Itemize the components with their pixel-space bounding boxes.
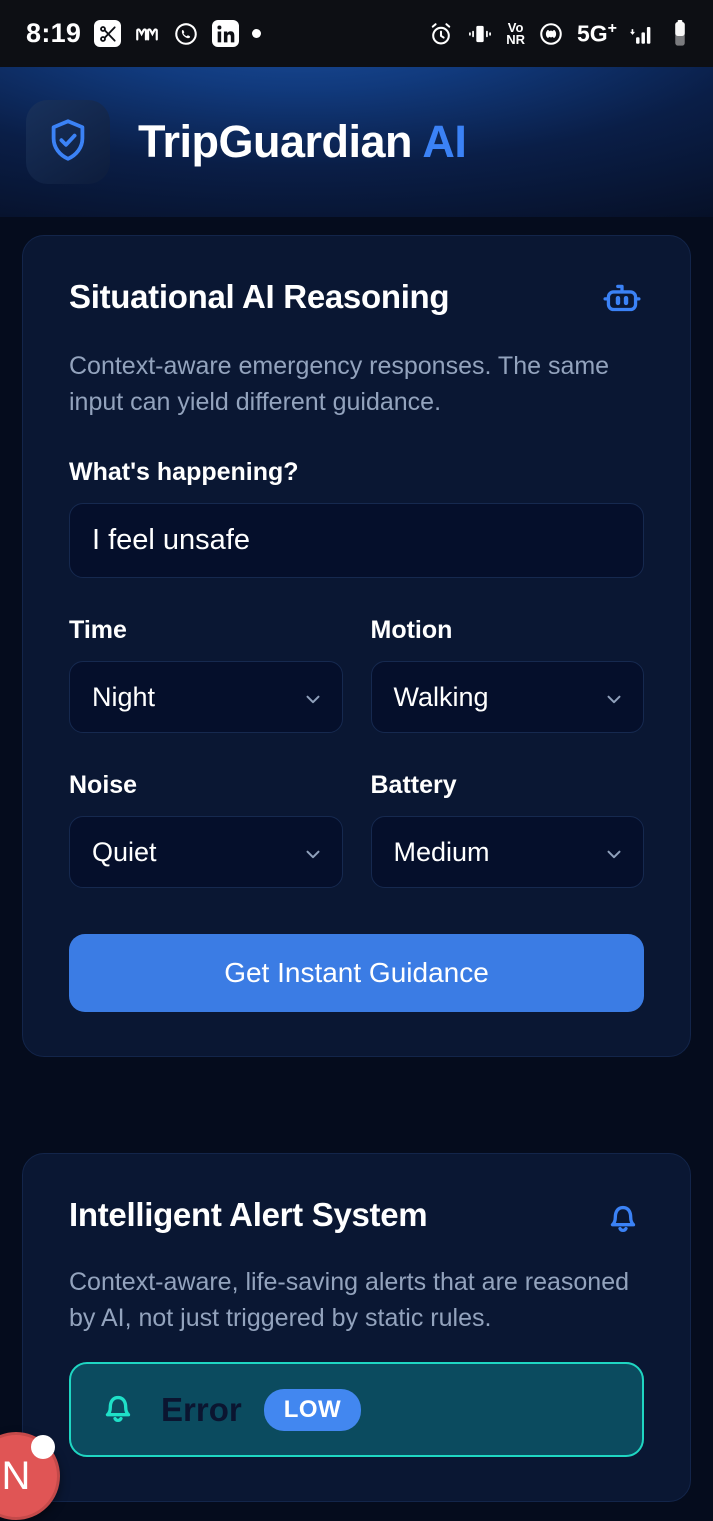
- alert-title: Error: [161, 1391, 242, 1429]
- hotspot-icon: [538, 21, 564, 47]
- select-noise-value: Quiet: [92, 837, 157, 868]
- page-content: Situational AI Reasoning Context-aware e…: [0, 235, 713, 1502]
- select-label-battery: Battery: [371, 771, 645, 800]
- status-bar-left: 8:19: [26, 18, 261, 49]
- screenshot-icon: [94, 20, 121, 47]
- avatar-initial: N: [2, 1454, 31, 1499]
- status-bar-right: Vo NR 5G+: [428, 20, 691, 48]
- avatar[interactable]: N: [0, 1432, 60, 1520]
- select-group-battery: Battery Medium: [371, 733, 645, 888]
- card-spacer: [22, 1057, 691, 1135]
- status-badge: LOW: [264, 1389, 361, 1431]
- card-description: Context-aware emergency responses. The s…: [69, 349, 644, 420]
- situation-input-label: What's happening?: [69, 458, 644, 487]
- card-title: Intelligent Alert System: [69, 1196, 427, 1234]
- card-intelligent-alert-system: Intelligent Alert System Context-aware, …: [22, 1153, 691, 1502]
- select-label-noise: Noise: [69, 771, 343, 800]
- context-selects-grid: Time Night Motion Walking Nois: [69, 578, 644, 888]
- linkedin-icon: [212, 20, 239, 47]
- alarm-icon: [428, 21, 454, 47]
- select-motion-value: Walking: [394, 682, 489, 713]
- notification-dot-icon: [31, 1435, 55, 1459]
- status-time: 8:19: [26, 18, 81, 49]
- chevron-down-icon: [603, 841, 625, 863]
- situation-input[interactable]: [69, 503, 644, 578]
- alert-item[interactable]: Error LOW: [69, 1362, 644, 1457]
- select-label-motion: Motion: [371, 616, 645, 645]
- medium-icon: [134, 21, 160, 47]
- shield-check-icon: [44, 116, 92, 169]
- select-battery-value: Medium: [394, 837, 490, 868]
- card-situational-ai-reasoning: Situational AI Reasoning Context-aware e…: [22, 235, 691, 1057]
- network-label: 5G+: [577, 20, 617, 48]
- vibrate-icon: [467, 21, 493, 47]
- select-group-motion: Motion Walking: [371, 578, 645, 733]
- battery-icon: [669, 20, 691, 48]
- card-description: Context-aware, life-saving alerts that a…: [69, 1265, 644, 1336]
- select-motion[interactable]: Walking: [371, 661, 645, 733]
- chevron-down-icon: [302, 686, 324, 708]
- app-logo: [26, 100, 110, 184]
- brand-name: TripGuardian: [138, 116, 412, 167]
- robot-icon: [600, 278, 644, 327]
- card-header: Situational AI Reasoning: [69, 278, 644, 327]
- select-group-noise: Noise Quiet: [69, 733, 343, 888]
- card-header: Intelligent Alert System: [69, 1196, 644, 1243]
- select-time-value: Night: [92, 682, 155, 713]
- vonr-bottom: NR: [506, 34, 525, 45]
- bell-icon: [602, 1196, 644, 1243]
- chevron-down-icon: [603, 686, 625, 708]
- get-instant-guidance-button[interactable]: Get Instant Guidance: [69, 934, 644, 1012]
- whatsapp-icon: [173, 21, 199, 47]
- dot-icon: [252, 29, 261, 38]
- status-bar: 8:19: [0, 0, 713, 67]
- bell-icon: [97, 1386, 139, 1433]
- select-battery[interactable]: Medium: [371, 816, 645, 888]
- select-group-time: Time Night: [69, 578, 343, 733]
- card-title: Situational AI Reasoning: [69, 278, 449, 316]
- chevron-down-icon: [302, 841, 324, 863]
- page-title: TripGuardian AI: [138, 116, 466, 168]
- select-time[interactable]: Night: [69, 661, 343, 733]
- brand-accent: AI: [422, 116, 466, 167]
- select-noise[interactable]: Quiet: [69, 816, 343, 888]
- signal-bars-icon: [630, 21, 656, 47]
- vonr-icon: Vo NR: [506, 22, 525, 44]
- select-label-time: Time: [69, 616, 343, 645]
- app-header: TripGuardian AI: [0, 67, 713, 217]
